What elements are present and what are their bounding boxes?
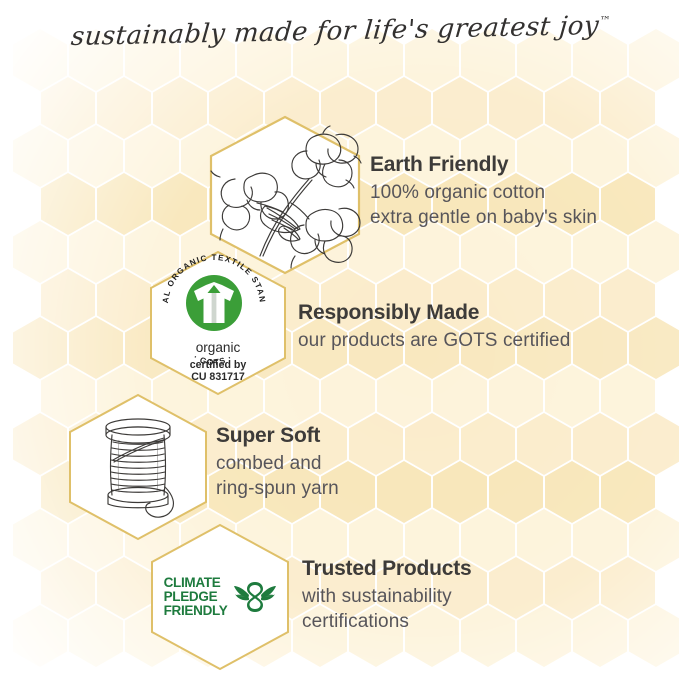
climate-pledge-friendly-icon: CLIMATE PLEDGE FRIENDLY (164, 576, 277, 619)
climate-pledge-line-2: PLEDGE (164, 590, 228, 604)
tagline-text: sustainably made for life's greatest joy… (69, 11, 611, 52)
feature-icon-trusted-products: CLIMATE PLEDGE FRIENDLY (145, 522, 295, 672)
feature-icon-responsibly-made: GLOBAL ORGANIC TEXTILE STANDARD · GOTS ·… (144, 249, 292, 397)
trademark-symbol: ™ (598, 14, 610, 27)
climate-pledge-wordmark: CLIMATE PLEDGE FRIENDLY (164, 576, 228, 619)
feature-line: 100% organic cotton (370, 180, 597, 205)
feature-icon-super-soft (63, 392, 213, 542)
feature-title: Responsibly Made (298, 300, 570, 326)
promotional-infographic: sustainably made for life's greatest joy… (0, 0, 679, 675)
tagline: sustainably made for life's greatest joy… (0, 22, 679, 52)
feature-line: our products are GOTS certified (298, 328, 570, 353)
feature-title: Earth Friendly (370, 152, 597, 178)
winged-hourglass-icon (234, 579, 276, 615)
feature-title: Trusted Products (302, 556, 472, 582)
feature-line: ring-spun yarn (216, 476, 339, 501)
svg-text:CU 831717: CU 831717 (191, 371, 245, 383)
feature-text-trusted-products: Trusted Products with sustainability cer… (302, 556, 472, 634)
feature-text-responsibly-made: Responsibly Made our products are GOTS c… (298, 300, 570, 353)
feature-title: Super Soft (216, 423, 339, 449)
svg-text:organic: organic (196, 340, 241, 355)
tagline-phrase: sustainably made for life's greatest joy (69, 11, 600, 52)
svg-text:certified by: certified by (190, 359, 247, 371)
feature-line: with sustainability (302, 584, 472, 609)
feature-line: combed and (216, 451, 339, 476)
climate-pledge-line-3: FRIENDLY (164, 604, 228, 618)
feature-text-super-soft: Super Soft combed and ring-spun yarn (216, 423, 339, 501)
climate-pledge-line-1: CLIMATE (164, 576, 228, 590)
feature-line: extra gentle on baby's skin (370, 205, 597, 230)
feature-text-earth-friendly: Earth Friendly 100% organic cotton extra… (370, 152, 597, 230)
feature-line: certifications (302, 609, 472, 634)
